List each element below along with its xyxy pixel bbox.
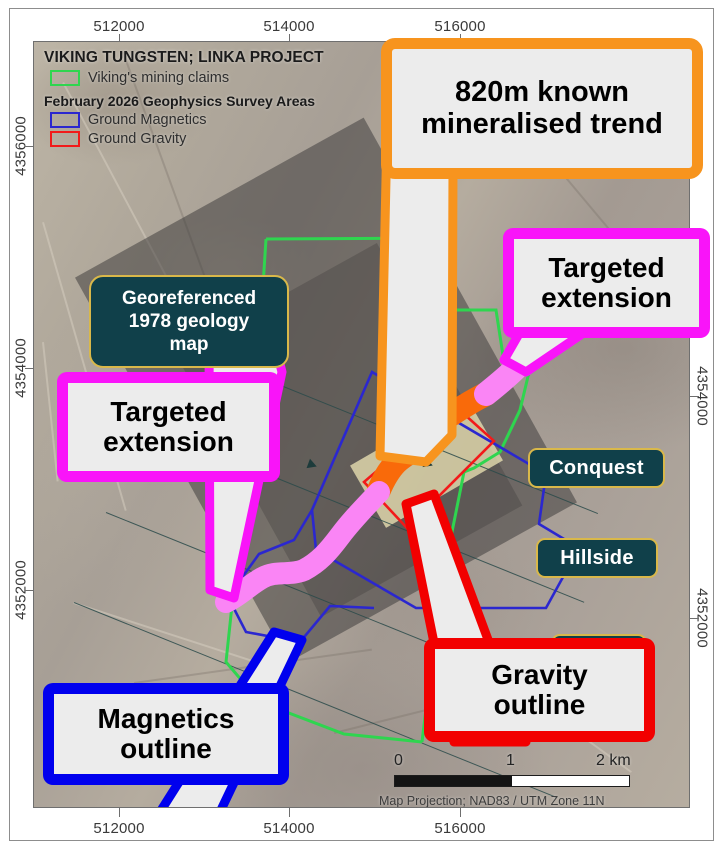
axis-bottom-tick-0 bbox=[119, 808, 120, 817]
legend-row-magnetics: Ground Magnetics bbox=[50, 112, 396, 128]
magnetics-swatch-icon bbox=[50, 112, 80, 128]
legend-row-claims: Viking's mining claims bbox=[50, 70, 396, 86]
legend-row-gravity: Ground Gravity bbox=[50, 131, 396, 147]
axis-bottom-tick-2 bbox=[460, 808, 461, 817]
scale-bar-labels: 0 1 2 km bbox=[394, 752, 654, 772]
callout-gravity-outline: Gravity outline bbox=[424, 638, 655, 742]
callout-known-mineralised-trend: 820m known mineralised trend bbox=[381, 38, 703, 179]
map-figure: 512000 514000 516000 512000 514000 51600… bbox=[0, 0, 723, 850]
place-name: Conquest bbox=[549, 457, 644, 480]
axis-top-label-0: 512000 bbox=[93, 18, 144, 35]
legend-gravity-label: Ground Gravity bbox=[88, 131, 186, 147]
place-label-conquest: Conquest bbox=[528, 448, 665, 488]
callout-gravity-line-2: outline bbox=[491, 690, 588, 720]
legend-magnetics-label: Ground Magnetics bbox=[88, 112, 206, 128]
scale-tick-1: 1 bbox=[506, 752, 515, 770]
axis-top-label-1: 514000 bbox=[263, 18, 314, 35]
axis-bottom-label-2: 516000 bbox=[434, 820, 485, 837]
callout-te-left-line-2: extension bbox=[103, 427, 234, 457]
scale-bar: 0 1 2 km bbox=[394, 752, 654, 787]
projection-note: Map Projection; NAD83 / UTM Zone 11N bbox=[379, 794, 605, 808]
georef-line-3: map bbox=[122, 333, 256, 356]
legend-claims-label: Viking's mining claims bbox=[88, 70, 229, 86]
scale-tick-0: 0 bbox=[394, 752, 403, 770]
callout-targeted-extension-right: Targeted extension bbox=[503, 228, 710, 338]
callout-targeted-extension-left: Targeted extension bbox=[57, 372, 280, 482]
callout-te-right-line-2: extension bbox=[541, 283, 672, 313]
callout-te-left-line-1: Targeted bbox=[103, 397, 234, 427]
axis-right-tick-1 bbox=[690, 618, 699, 619]
callout-magnetics-line-2: outline bbox=[98, 734, 235, 764]
callout-te-right-line-1: Targeted bbox=[541, 253, 672, 283]
scale-bar-segment-empty bbox=[512, 776, 629, 786]
axis-top-label-2: 516000 bbox=[434, 18, 485, 35]
place-label-hillside: Hillside bbox=[536, 538, 658, 578]
callout-trend-line-1: 820m known bbox=[421, 77, 663, 108]
legend-survey-title: February 2026 Geophysics Survey Areas bbox=[44, 93, 396, 109]
callout-magnetics-outline: Magnetics outline bbox=[43, 683, 289, 785]
axis-bottom-label-1: 514000 bbox=[263, 820, 314, 837]
claims-swatch-icon bbox=[50, 70, 80, 86]
axis-bottom-label-0: 512000 bbox=[93, 820, 144, 837]
ground-magnetics-outline-south bbox=[300, 606, 374, 642]
targeted-extension-ne-line bbox=[486, 368, 516, 394]
scale-tick-2: 2 km bbox=[596, 752, 631, 770]
scale-bar-segment-filled bbox=[395, 776, 512, 786]
callout-gravity-line-1: Gravity bbox=[491, 660, 588, 690]
legend-title: VIKING TUNGSTEN; LINKA PROJECT bbox=[44, 49, 396, 67]
map-legend: VIKING TUNGSTEN; LINKA PROJECT Viking's … bbox=[40, 47, 400, 152]
georeferenced-geology-map-label: Georeferenced 1978 geology map bbox=[89, 275, 289, 368]
georef-line-1: Georeferenced bbox=[122, 287, 256, 310]
callout-magnetics-line-1: Magnetics bbox=[98, 704, 235, 734]
place-name: Hillside bbox=[560, 547, 634, 570]
georef-line-2: 1978 geology bbox=[122, 310, 256, 333]
axis-right-tick-0 bbox=[690, 396, 699, 397]
axis-bottom-tick-1 bbox=[289, 808, 290, 817]
callout-trend-line-2: mineralised trend bbox=[421, 109, 663, 140]
gravity-swatch-icon bbox=[50, 131, 80, 147]
scale-bar-graphic bbox=[394, 775, 630, 787]
